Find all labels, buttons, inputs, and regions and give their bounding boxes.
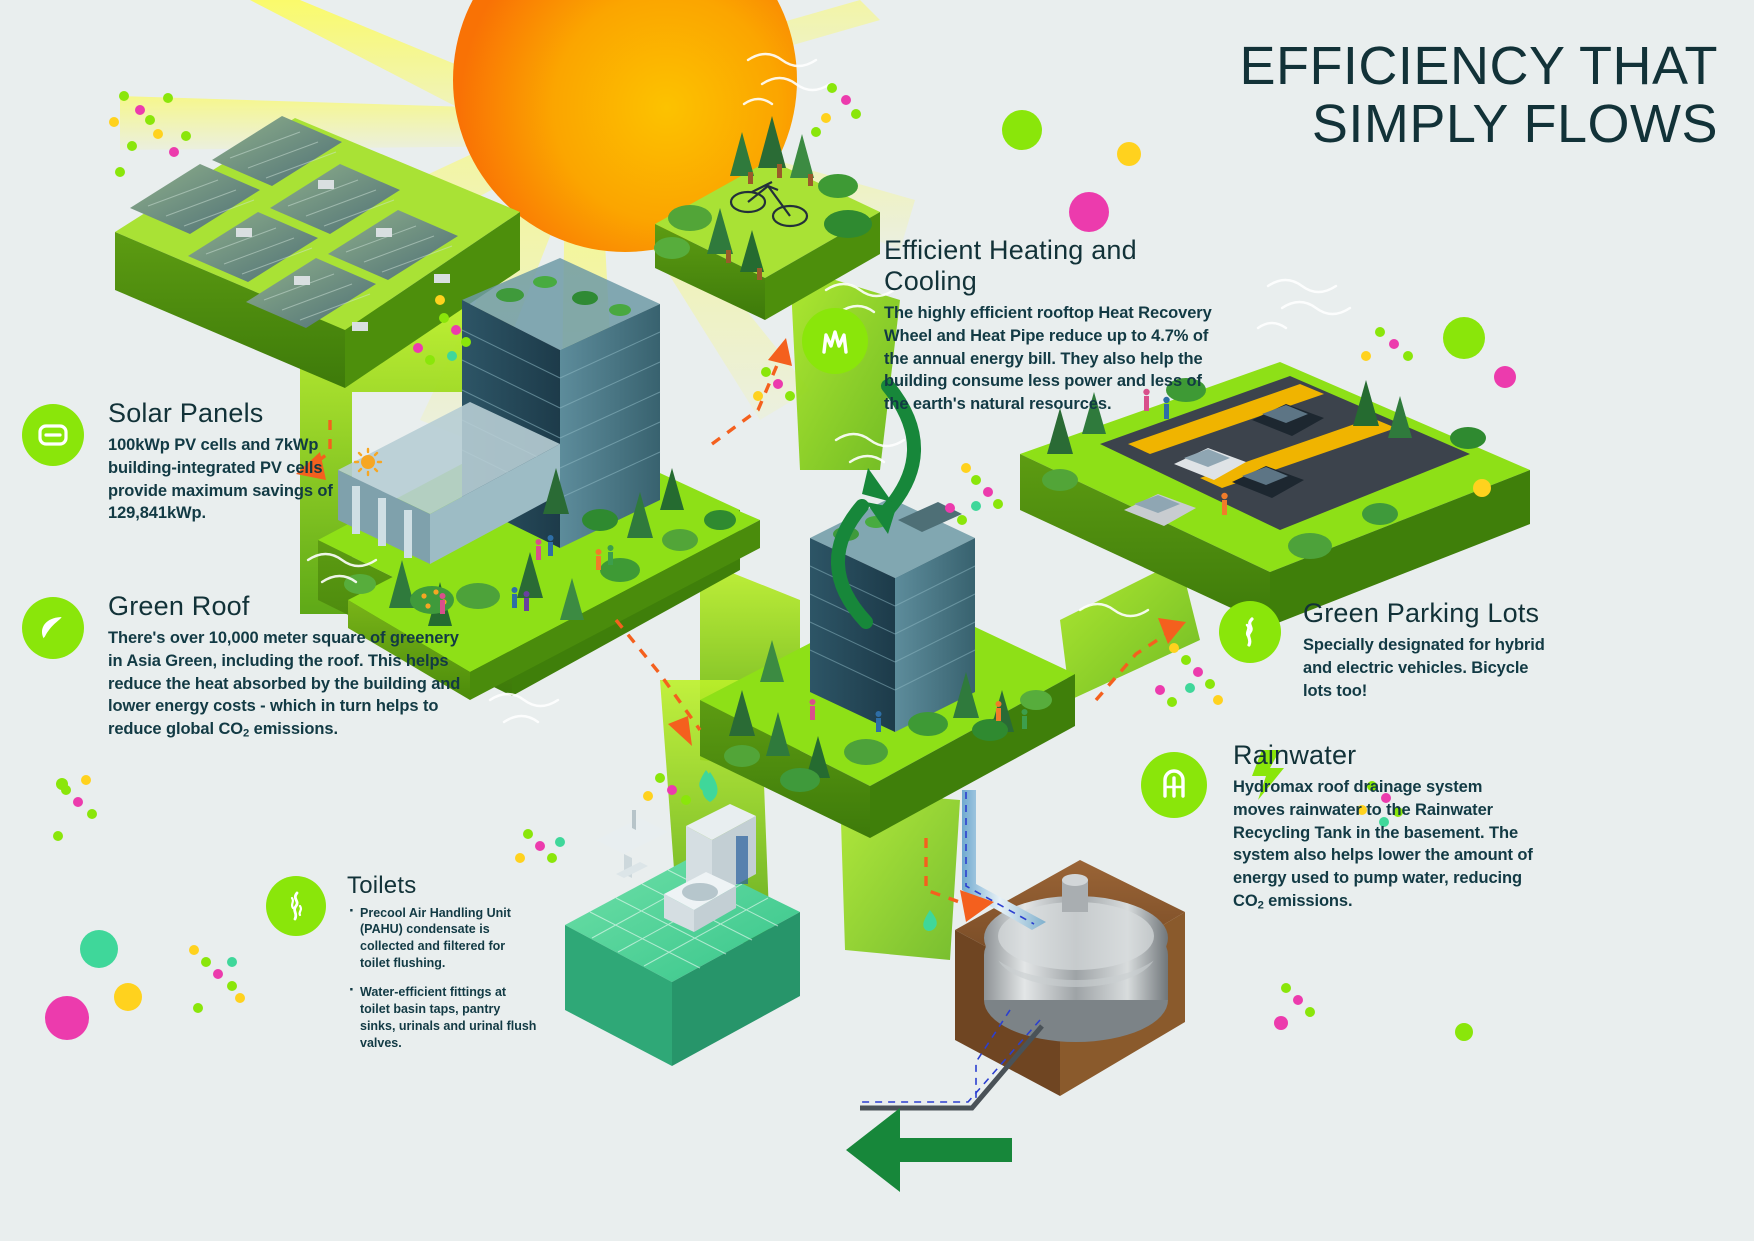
toilets-bullet-list: Precool Air Handling Unit (PAHU) condens… xyxy=(347,905,537,1052)
green-parking-icon-badge xyxy=(1219,601,1281,663)
green-parking-title: Green Parking Lots xyxy=(1303,598,1553,629)
leaf-icon xyxy=(33,608,73,648)
green-parking-body: Specially designated for hybrid and elec… xyxy=(1303,634,1553,702)
heating-cooling-body: The highly efficient rooftop Heat Recove… xyxy=(884,302,1214,416)
water-drop-flow-icon xyxy=(277,887,315,925)
heating-cooling-title: Efficient Heating and Cooling xyxy=(884,235,1214,297)
green-roof-body: There's over 10,000 meter square of gree… xyxy=(108,627,468,742)
heating-cooling-icon-badge xyxy=(802,308,868,374)
decor-circle-yellow xyxy=(1473,479,1491,497)
solar-panels-icon-badge xyxy=(22,404,84,466)
solar-panels-block: Solar Panels 100kWp PV cells and 7kWp bu… xyxy=(108,398,338,525)
green-parking-block: Green Parking Lots Specially designated … xyxy=(1303,598,1553,702)
heat-wheel-icon xyxy=(814,320,856,362)
decor-circle-green xyxy=(56,778,68,790)
toilets-icon-badge xyxy=(266,876,326,936)
decor-circle-pink xyxy=(1494,366,1516,388)
infographic-canvas: EFFICIENCY THAT SIMPLY FLOWS Solar Panel… xyxy=(0,0,1754,1241)
rainwater-body-part2: emissions. xyxy=(1264,892,1353,910)
green-roof-title: Green Roof xyxy=(108,591,468,622)
toilets-title: Toilets xyxy=(347,872,537,900)
rainwater-body-part1: Hydromax roof drainage system moves rain… xyxy=(1233,778,1533,910)
solar-panels-title: Solar Panels xyxy=(108,398,338,429)
decor-circle-pink xyxy=(45,996,89,1040)
green-roof-body-part2: emissions. xyxy=(249,720,338,738)
rainwater-block: Rainwater Hydromax roof drainage system … xyxy=(1233,740,1533,914)
rainwater-body: Hydromax roof drainage system moves rain… xyxy=(1233,776,1533,914)
solar-panel-icon xyxy=(33,415,73,455)
list-item: Water-efficient fittings at toilet basin… xyxy=(347,984,537,1052)
decor-circle-pink xyxy=(1069,192,1109,232)
water-tank-icon xyxy=(1153,764,1195,806)
heating-cooling-block: Efficient Heating and Cooling The highly… xyxy=(884,235,1214,416)
green-roof-block: Green Roof There's over 10,000 meter squ… xyxy=(108,591,468,742)
decor-circle-yellow xyxy=(114,983,142,1011)
page-title: EFFICIENCY THAT SIMPLY FLOWS xyxy=(1239,38,1718,154)
list-item: Precool Air Handling Unit (PAHU) condens… xyxy=(347,905,537,973)
decor-circle-green xyxy=(1443,317,1485,359)
decor-circle-yellow xyxy=(1117,142,1141,166)
decor-circle-green xyxy=(1002,110,1042,150)
rainwater-title: Rainwater xyxy=(1233,740,1533,771)
sink-icon xyxy=(596,810,668,878)
decor-circle-green xyxy=(1455,1023,1473,1041)
toilets-block: Toilets Precool Air Handling Unit (PAHU)… xyxy=(347,872,537,1064)
decor-circle-teal xyxy=(80,930,118,968)
rainwater-icon-badge xyxy=(1141,752,1207,818)
decor-circle-pink xyxy=(1274,1016,1288,1030)
plug-flame-icon xyxy=(1230,612,1270,652)
solar-panels-body: 100kWp PV cells and 7kWp building-integr… xyxy=(108,434,338,525)
mini-sun-icon xyxy=(355,449,381,475)
green-roof-icon-badge xyxy=(22,597,84,659)
